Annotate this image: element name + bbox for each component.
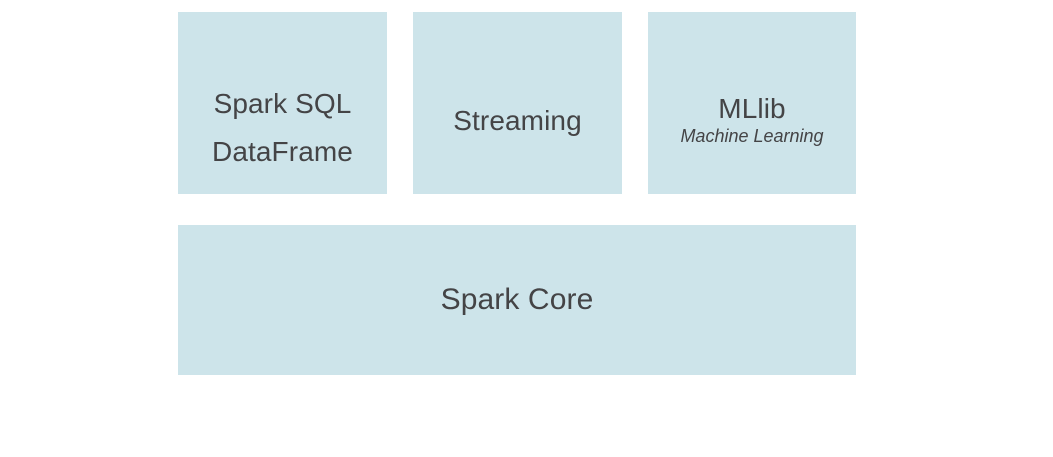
block-mllib-title: MLlib [718, 72, 785, 125]
block-spark-sql-title-line-2: DataFrame [212, 120, 353, 168]
block-mllib-subtitle: Machine Learning [680, 125, 823, 147]
block-spark-core[interactable]: Spark Core [178, 225, 856, 375]
block-spark-core-title: Spark Core [441, 283, 594, 317]
block-spark-sql-title-line-1: Spark SQL [214, 72, 352, 120]
block-streaming[interactable]: Streaming [413, 12, 622, 194]
block-mllib[interactable]: MLlib Machine Learning [648, 12, 856, 194]
block-streaming-title: Streaming [453, 72, 582, 137]
block-spark-sql[interactable]: Spark SQL DataFrame [178, 12, 387, 194]
spark-stack-diagram: Spark SQL DataFrame Streaming MLlib Mach… [0, 0, 1053, 457]
